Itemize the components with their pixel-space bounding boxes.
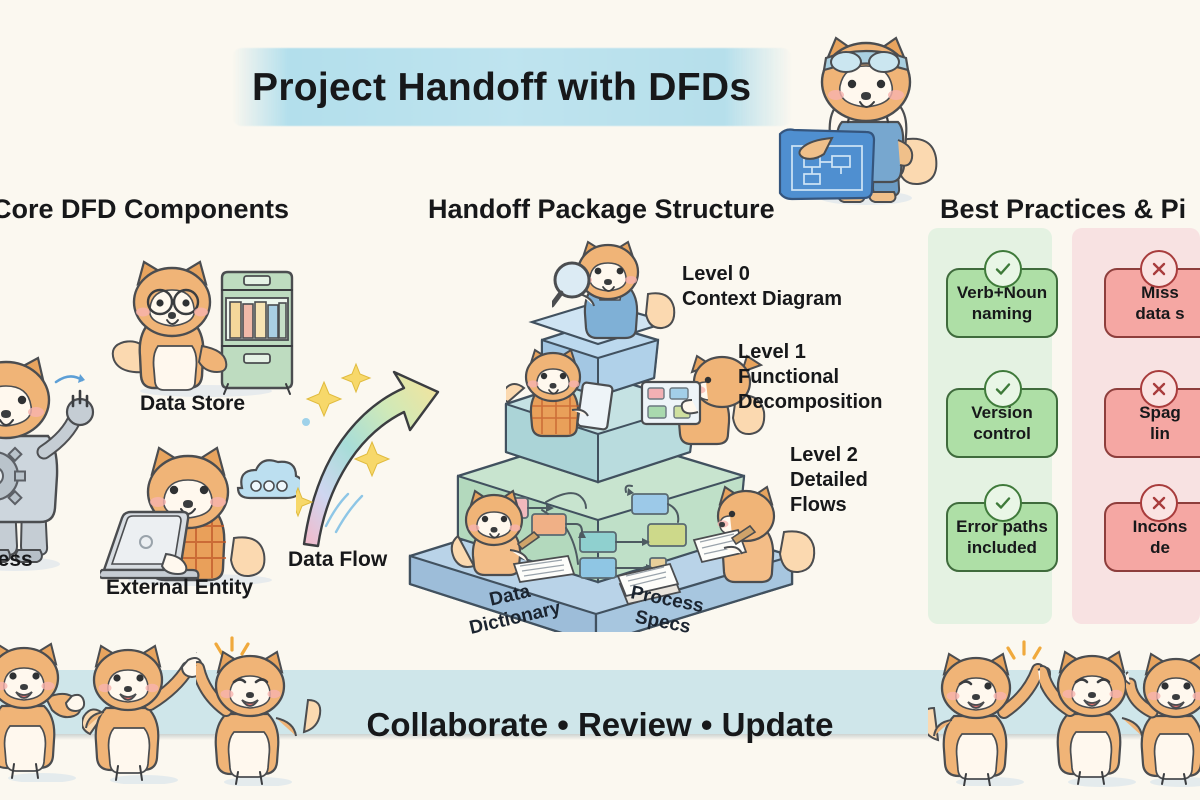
best-practice-1-line2: naming xyxy=(957,303,1047,324)
infographic-canvas: Project Handoff with DFDs xyxy=(0,0,1200,800)
pitfall-2-line2: lin xyxy=(1139,423,1181,444)
cross-circle-icon xyxy=(1140,250,1178,288)
level-2-detail-1: Detailed xyxy=(790,468,868,493)
level-2-name: Level 2 xyxy=(790,443,868,468)
best-practice-2-line2: control xyxy=(971,423,1032,444)
section-heading-middle-label: Handoff Package Structure xyxy=(428,194,775,224)
level-1-detail-1: Functional xyxy=(738,365,882,390)
footer-tagline: Collaborate • Review • Update xyxy=(0,706,1200,744)
cross-circle-icon xyxy=(1140,370,1178,408)
component-label-process: cess xyxy=(0,548,33,572)
pitfall-1-line2: data s xyxy=(1135,303,1184,324)
section-heading-left-label: Core DFD Components xyxy=(0,194,289,224)
component-label-data-store: Data Store xyxy=(140,392,245,416)
check-circle-icon xyxy=(984,250,1022,288)
pyramid-level-2-label: Level 2 Detailed Flows xyxy=(790,443,868,518)
magnifier-shiba-icon xyxy=(552,238,680,348)
best-practice-3-line2: included xyxy=(956,537,1048,558)
component-label-external-entity: External Entity xyxy=(106,576,253,600)
section-heading-left: Core DFD Components xyxy=(0,194,289,225)
section-heading-right: Best Practices & Pi xyxy=(940,194,1186,225)
pyramid-level-1-label: Level 1 Functional Decomposition xyxy=(738,340,882,415)
check-circle-icon xyxy=(984,370,1022,408)
level-2-detail-2: Flows xyxy=(790,493,868,518)
engineer-shiba-icon xyxy=(770,22,960,212)
level-0-detail: Context Diagram xyxy=(682,287,842,312)
section-heading-middle: Handoff Package Structure xyxy=(428,194,775,225)
level-1-name: Level 1 xyxy=(738,340,882,365)
check-circle-icon xyxy=(984,484,1022,522)
pyramid-level-0-label: Level 0 Context Diagram xyxy=(682,262,842,312)
level-1-detail-2: Decomposition xyxy=(738,390,882,415)
tablet-shiba-icon xyxy=(506,348,616,444)
section-heading-right-label: Best Practices & Pi xyxy=(940,194,1186,224)
writing-shiba-left-icon xyxy=(448,482,578,592)
robot-gear-shiba-icon xyxy=(0,318,102,578)
filing-cabinet-icon xyxy=(110,250,300,400)
laptop-shiba-icon xyxy=(100,430,300,590)
pitfall-3-line2: de xyxy=(1133,537,1188,558)
component-label-data-flow: Data Flow xyxy=(288,548,387,572)
cross-circle-icon xyxy=(1140,484,1178,522)
level-0-name: Level 0 xyxy=(682,262,842,287)
page-title: Project Handoff with DFDs xyxy=(252,60,792,116)
